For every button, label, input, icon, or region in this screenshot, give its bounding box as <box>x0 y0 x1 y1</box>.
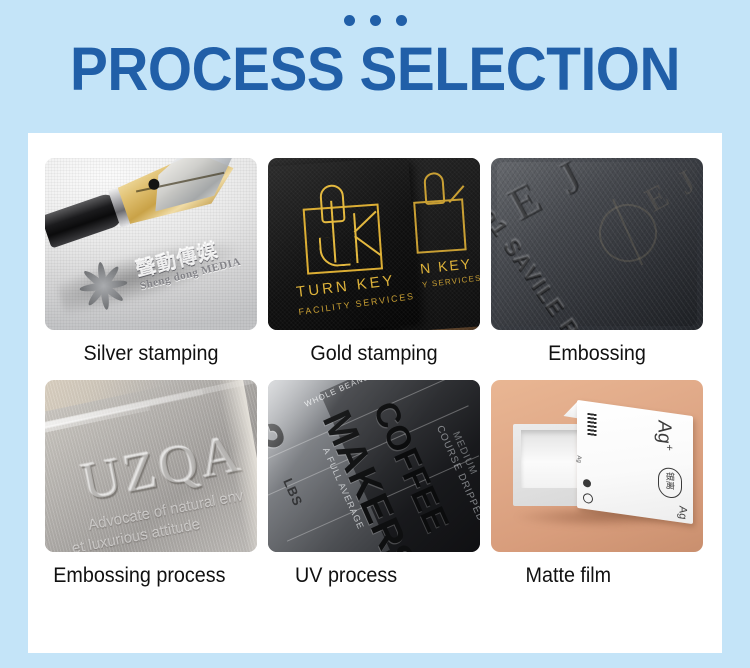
process-gallery-grid: 聲動傳媒 Sheng dong MEDIA Silver stamping <box>45 158 705 588</box>
gold-stamping-image[interactable]: TURN KEY FACILITY SERVICES N KEY Y SERVI… <box>268 158 480 330</box>
silver-stamping-image[interactable]: 聲動傳媒 Sheng dong MEDIA <box>45 158 257 330</box>
box-sleeve: Ag+ 银离 Ag Ag <box>577 400 693 524</box>
dot-icon-3 <box>396 15 407 26</box>
process-label-silver-stamping: Silver stamping <box>51 342 250 366</box>
box-dot-mark-icon <box>583 479 591 488</box>
process-card-uv-process[interactable]: WHOLE BEANS 2 LBS A FULL AVERAGE MAKERS … <box>268 380 480 588</box>
box-fineprint-text: Ag <box>576 455 582 463</box>
process-label-embossing: Embossing <box>497 342 696 366</box>
dot-icon-1 <box>344 15 355 26</box>
gold-foil-monogram-icon-secondary <box>403 170 479 257</box>
box-circle-mark-icon <box>583 493 593 504</box>
process-card-silver-stamping[interactable]: 聲動傳媒 Sheng dong MEDIA Silver stamping <box>45 158 257 366</box>
process-label-embossing-process: Embossing process <box>51 564 250 588</box>
page-title: PROCESS SELECTION <box>26 36 724 102</box>
process-card-embossing-process[interactable]: UZQA Advocate of natural env et luxuriou… <box>45 380 257 588</box>
process-card-gold-stamping[interactable]: TURN KEY FACILITY SERVICES N KEY Y SERVI… <box>268 158 480 366</box>
gold-foil-monogram-icon <box>291 177 395 278</box>
process-label-matte-film: Matte film <box>497 564 696 588</box>
box-brand-text: Ag+ <box>653 419 675 452</box>
box-seal-badge: 银离 <box>658 466 682 499</box>
gallery-panel: 聲動傳媒 Sheng dong MEDIA Silver stamping <box>28 133 722 653</box>
decorative-dots <box>0 13 750 27</box>
embossing-process-image[interactable]: UZQA Advocate of natural env et luxuriou… <box>45 380 257 552</box>
page-header: PROCESS SELECTION <box>0 0 750 102</box>
process-label-gold-stamping: Gold stamping <box>274 342 473 366</box>
dot-icon-2 <box>370 15 381 26</box>
box-barcode-icon <box>588 413 597 436</box>
embossed-flower-logo <box>74 257 133 316</box>
process-card-embossing[interactable]: E J E J No1 SAVILE ROW Embossing <box>491 158 703 366</box>
uv-gloss-highlight <box>268 380 480 552</box>
matte-film-image[interactable]: Ag+ 银离 Ag Ag <box>491 380 703 552</box>
process-label-uv-process: UV process <box>274 564 473 588</box>
process-card-matte-film[interactable]: Ag+ 银离 Ag Ag Matte film <box>491 380 703 588</box>
uv-process-image[interactable]: WHOLE BEANS 2 LBS A FULL AVERAGE MAKERS … <box>268 380 480 552</box>
embossing-image[interactable]: E J E J No1 SAVILE ROW <box>491 158 703 330</box>
box-side-brand-text: Ag <box>676 505 688 520</box>
